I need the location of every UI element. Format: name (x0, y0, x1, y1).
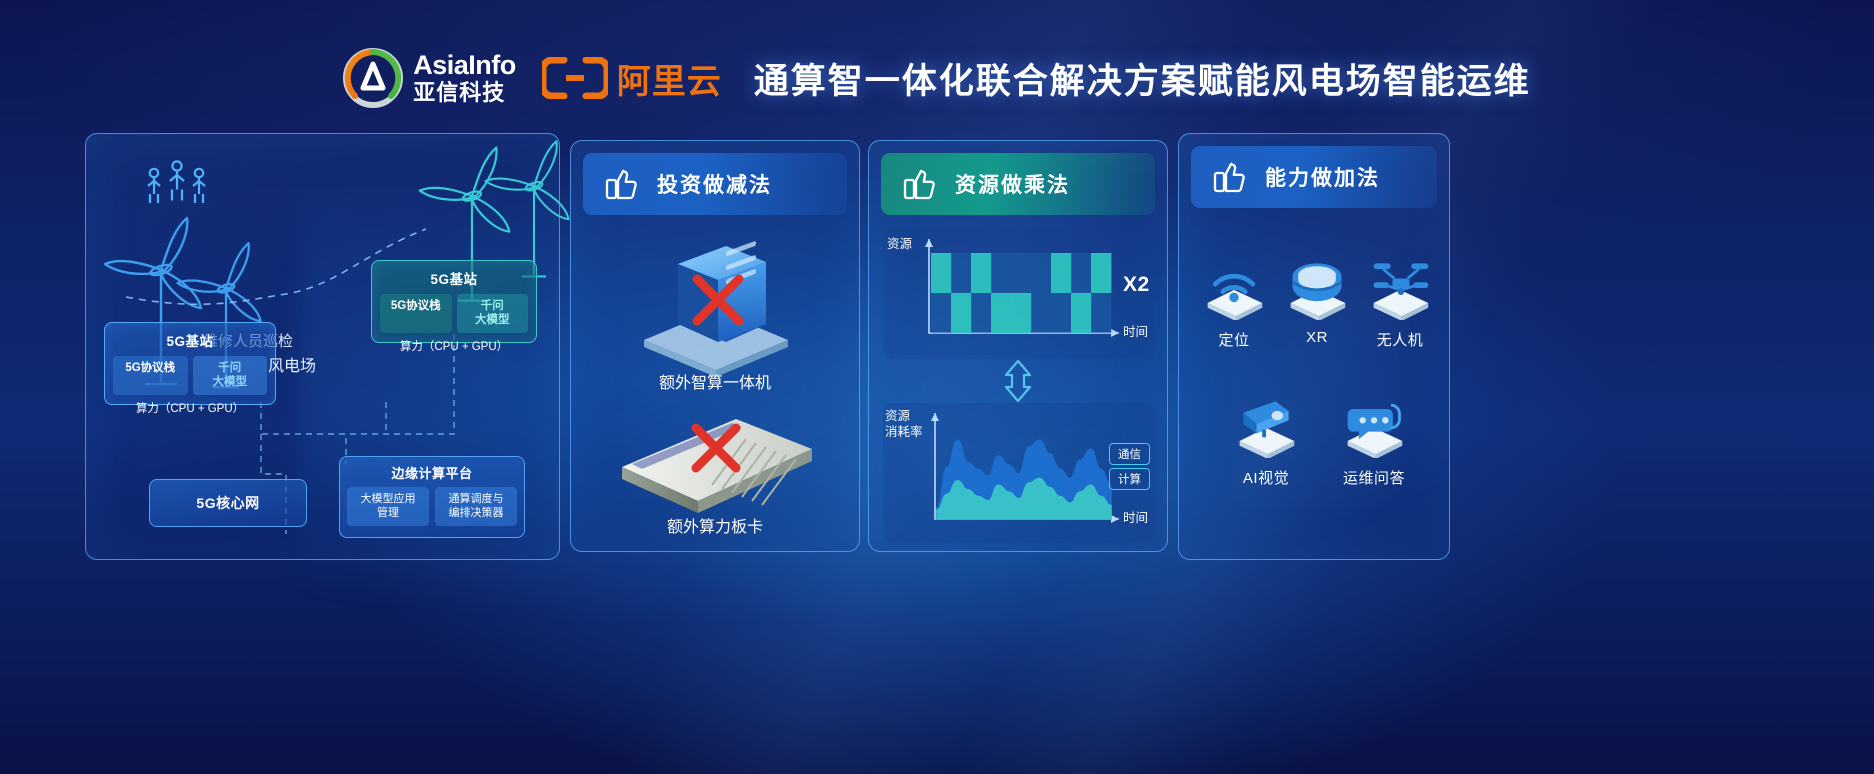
thumbs-up-icon (605, 167, 639, 201)
wifi-location-icon (1195, 254, 1273, 320)
aliyun-name-cn: 阿里云 (617, 54, 722, 103)
base-station-1-title: 5G基站 (105, 330, 275, 350)
base-station-2-compute: 算力（CPU + GPU） (372, 333, 536, 360)
asiainfo-mark-icon (343, 48, 403, 108)
core-network-box: 5G核心网 (149, 479, 307, 527)
wind-farm-architecture-panel: 维修人员巡检 (85, 133, 560, 560)
capability-panel-header: 能力做加法 (1191, 146, 1437, 208)
legend-tag-1: 计算 (1109, 468, 1150, 490)
area-x-label: 时间 (1123, 511, 1148, 527)
capability-item-4-label: 运维问答 (1329, 467, 1419, 488)
investment-panel: 投资做减法 额外智算一体机 (570, 140, 860, 552)
base-station-box-2: 5G基站 5G协议栈 千问 大模型 算力（CPU + GPU） (371, 260, 537, 343)
capability-item-1-label: XR (1272, 329, 1362, 346)
investment-panel-title: 投资做减法 (657, 169, 772, 199)
base-station-1-protocol: 5G协议栈 (113, 356, 188, 395)
resource-panel-header: 资源做乘法 (881, 153, 1155, 215)
base-station-1-model: 千问 大模型 (193, 356, 268, 395)
thumbs-up-icon (903, 167, 937, 201)
resource-panel: 资源做乘法 资源 X2 时间 资源消耗率 时间 通信 计算 (868, 140, 1168, 552)
capability-item-2-label: 无人机 (1355, 329, 1445, 350)
drone-icon (1361, 254, 1439, 320)
thumbs-up-icon (1213, 160, 1247, 194)
investment-item-1-label: 额外智算一体机 (571, 369, 859, 393)
camera-vision-icon (1227, 392, 1305, 458)
capability-item-4: 运维问答 (1329, 392, 1419, 488)
capability-item-3: AI视觉 (1221, 392, 1311, 488)
base-station-2-title: 5G基站 (372, 268, 536, 288)
edge-platform-cell-1: 大模型应用 管理 (347, 487, 429, 526)
base-station-box-1: 5G基站 5G协议栈 千问 大模型 算力（CPU + GPU） (104, 322, 276, 405)
aliyun-logo: 阿里云 (542, 54, 722, 103)
wind-farm-label: 风电场 (268, 352, 316, 376)
capability-item-0: 定位 (1189, 254, 1279, 350)
resource-heatmap-chart: 资源 X2 时间 (883, 229, 1155, 359)
page-title: 通算智一体化联合解决方案赋能风电场智能运维 (754, 53, 1531, 104)
capability-panel: 能力做加法 定位 XR (1178, 133, 1450, 560)
edge-platform-title: 边缘计算平台 (340, 463, 524, 482)
capability-item-1: XR (1272, 254, 1362, 346)
base-station-2-model: 千问 大模型 (457, 294, 529, 333)
cross-mark-2 (689, 421, 743, 475)
asiainfo-name-en: AsiaInfo (413, 52, 516, 79)
multiplier-label: X2 (1123, 273, 1150, 297)
asiainfo-name-cn: 亚信科技 (413, 82, 516, 104)
base-station-2-protocol: 5G协议栈 (380, 294, 452, 333)
resource-panel-title: 资源做乘法 (955, 169, 1070, 199)
capability-item-3-label: AI视觉 (1221, 467, 1311, 488)
edge-platform-cell-2: 通算调度与 编排决策器 (435, 487, 517, 526)
aliyun-mark-icon (542, 57, 608, 99)
capability-panel-title: 能力做加法 (1265, 162, 1380, 192)
double-arrow-icon (1001, 359, 1035, 403)
heatmap-x-label: 时间 (1123, 325, 1148, 341)
header: AsiaInfo 亚信科技 阿里云 通算智一体化联合解决方案赋能风电场智能运维 (0, 48, 1874, 108)
capability-item-0-label: 定位 (1189, 329, 1279, 350)
chat-robot-icon (1335, 392, 1413, 458)
investment-item-2-label: 额外算力板卡 (571, 513, 859, 537)
asiainfo-logo: AsiaInfo 亚信科技 (343, 48, 516, 108)
legend-tag-0: 通信 (1109, 443, 1150, 465)
base-station-1-compute: 算力（CPU + GPU） (105, 395, 275, 422)
vr-headset-icon (1278, 254, 1356, 320)
cross-mark-1 (689, 271, 747, 329)
investment-panel-header: 投资做减法 (583, 153, 847, 215)
capability-item-2: 无人机 (1355, 254, 1445, 350)
edge-platform-box: 边缘计算平台 大模型应用 管理 通算调度与 编排决策器 (339, 456, 525, 538)
